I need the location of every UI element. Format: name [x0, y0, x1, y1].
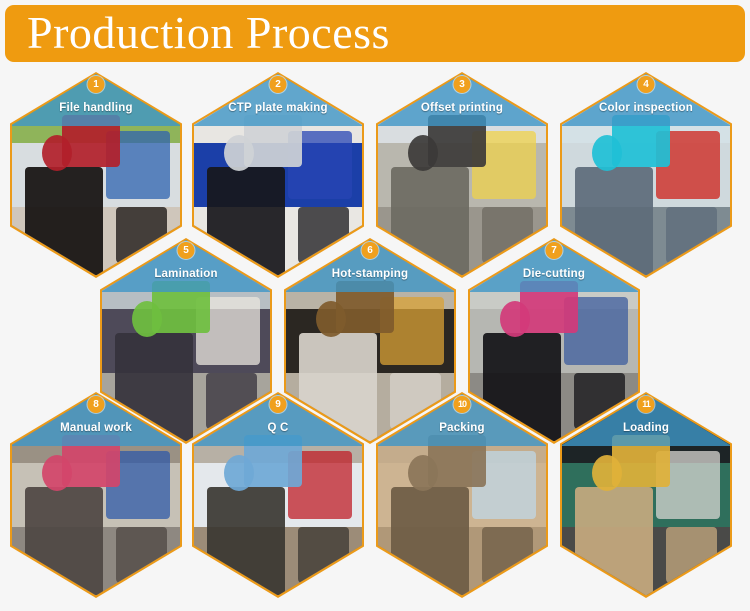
step-number-badge: 6	[362, 242, 379, 259]
step-number-badge: 5	[178, 242, 195, 259]
step-number-badge: 10	[454, 396, 471, 413]
photo-shape	[207, 487, 284, 596]
photo-shape	[666, 207, 716, 263]
photo-shape	[482, 527, 532, 583]
step-number-badge: 11	[638, 396, 655, 413]
header-bar: Production Process	[5, 5, 745, 62]
step-number-badge: 8	[88, 396, 105, 413]
photo-shape	[298, 527, 348, 583]
process-step-8[interactable]: 8Manual work	[10, 392, 182, 598]
process-step-9[interactable]: 9Q C	[192, 392, 364, 598]
photo-shape	[116, 527, 166, 583]
step-number-badge: 7	[546, 242, 563, 259]
step-number-badge: 3	[454, 76, 471, 93]
process-hexagon-grid: 1File handling2CTP plate making3Offset p…	[0, 62, 750, 611]
process-step-11[interactable]: 11Loading	[560, 392, 732, 598]
photo-shape	[575, 487, 652, 596]
photo-shape	[25, 487, 102, 596]
photo-shape	[391, 487, 468, 596]
page-title: Production Process	[27, 3, 390, 63]
step-number-badge: 9	[270, 396, 287, 413]
step-number-badge: 2	[270, 76, 287, 93]
photo-shape	[666, 527, 716, 583]
step-number-badge: 4	[638, 76, 655, 93]
process-step-10[interactable]: 10Packing	[376, 392, 548, 598]
photo-shape	[25, 167, 102, 276]
step-number-badge: 1	[88, 76, 105, 93]
